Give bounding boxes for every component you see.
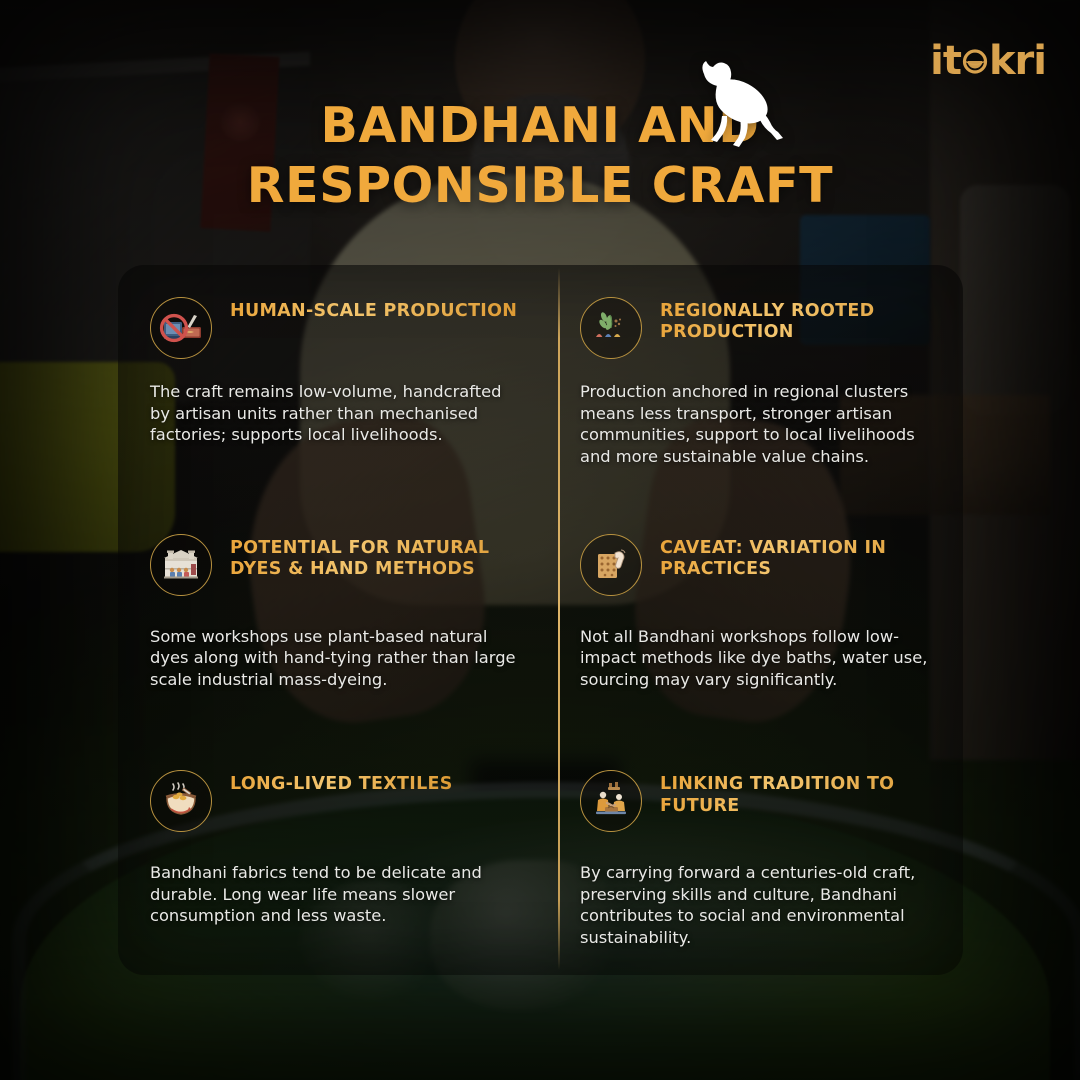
itokri-basket-logo-icon [962, 48, 988, 74]
page-title-line-2: RESPONSIBLE CRAFT [0, 156, 1080, 216]
card-header: REGIONALLY ROOTED PRODUCTION [580, 297, 939, 359]
card-header: HUMAN-SCALE PRODUCTION [150, 297, 524, 359]
card-title: HUMAN-SCALE PRODUCTION [230, 297, 517, 322]
brand-logo[interactable]: it kri [930, 38, 1046, 84]
brand-logo-it: it [930, 41, 961, 81]
no-factory-machine-icon [150, 297, 212, 359]
card-header: CAVEAT: VARIATION IN PRACTICES [580, 534, 939, 596]
page-title-line-1: BANDHANI AND [0, 96, 1080, 156]
card-header: POTENTIAL FOR NATURAL DYES & HAND METHOD… [150, 534, 524, 596]
card-human-scale-production[interactable]: HUMAN-SCALE PRODUCTION The craft remains… [118, 265, 558, 502]
card-title: POTENTIAL FOR NATURAL DYES & HAND METHOD… [230, 534, 524, 581]
card-title: REGIONALLY ROOTED PRODUCTION [660, 297, 939, 344]
card-body: The craft remains low-volume, handcrafte… [150, 381, 524, 446]
natural-dye-leaves-powders-icon [580, 297, 642, 359]
card-regionally-rooted-production[interactable]: REGIONALLY ROOTED PRODUCTION Production … [558, 265, 963, 502]
infographic-canvas: it kri BANDHANI AND RESPONS [0, 0, 1080, 1080]
card-title: LINKING TRADITION TO FUTURE [660, 770, 939, 817]
card-long-lived-textiles[interactable]: LONG-LIVED TEXTILES Bandhani fabrics ten… [118, 738, 558, 975]
brand-logo-kri: kri [989, 41, 1046, 81]
card-body: Some workshops use plant-based natural d… [150, 626, 524, 691]
white-goat-illustration-icon [688, 56, 796, 148]
card-caveat-variation-in-practices[interactable]: CAVEAT: VARIATION IN PRACTICES Not all B… [558, 502, 963, 739]
steaming-dye-pot-icon [150, 770, 212, 832]
card-title: LONG-LIVED TEXTILES [230, 770, 453, 795]
card-body: Bandhani fabrics tend to be delicate and… [150, 862, 524, 927]
card-potential-natural-dyes[interactable]: POTENTIAL FOR NATURAL DYES & HAND METHOD… [118, 502, 558, 739]
card-header: LINKING TRADITION TO FUTURE [580, 770, 939, 832]
artisan-workshop-building-icon [150, 534, 212, 596]
page-title: BANDHANI AND RESPONSIBLE CRAFT [0, 96, 1080, 216]
card-body: Production anchored in regional clusters… [580, 381, 939, 467]
card-title: CAVEAT: VARIATION IN PRACTICES [660, 534, 939, 581]
card-header: LONG-LIVED TEXTILES [150, 770, 524, 832]
card-body: By carrying forward a centuries-old craf… [580, 862, 939, 948]
hand-holding-patterned-fabric-icon [580, 534, 642, 596]
two-artisans-working-icon [580, 770, 642, 832]
card-linking-tradition-to-future[interactable]: LINKING TRADITION TO FUTURE By carrying … [558, 738, 963, 975]
cards-grid: HUMAN-SCALE PRODUCTION The craft remains… [118, 265, 963, 975]
brand-logo-text: it kri [930, 41, 1046, 81]
card-body: Not all Bandhani workshops follow low-im… [580, 626, 939, 691]
